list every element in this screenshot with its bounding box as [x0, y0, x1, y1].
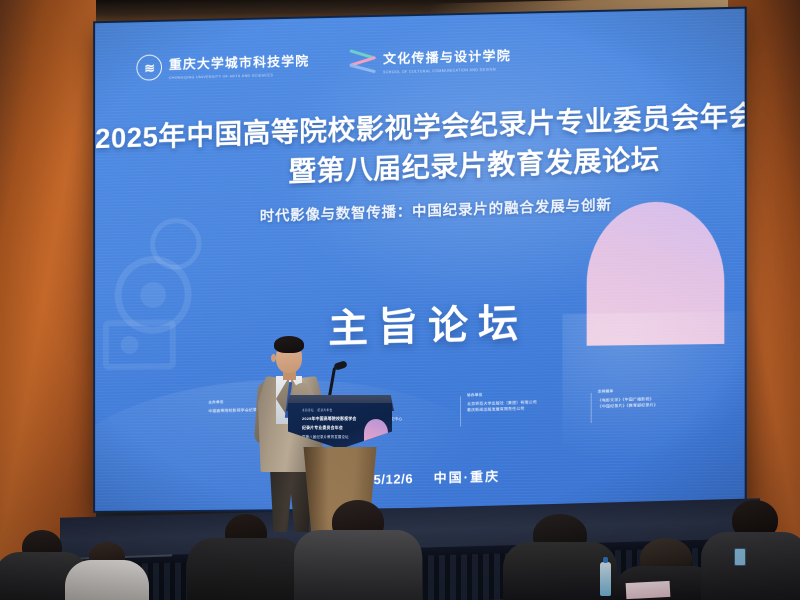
audience-puffer-jacket — [294, 530, 422, 600]
audience-member — [292, 500, 424, 600]
speaker-ear — [271, 354, 276, 362]
logo-university-text: 重庆大学城市科技学院 CHONGQING UNIVERSITY OF ARTS … — [169, 50, 310, 80]
audience-area — [0, 490, 800, 600]
audience-member — [64, 542, 150, 600]
logo-school-name-cn: 文化传播与设计学院 — [383, 48, 511, 66]
podium-sign-line-3: 暨第八届纪录片教育发展论坛 — [302, 434, 349, 439]
audience-coat — [65, 560, 149, 600]
credit-column: 支持媒体 《电影文学》《中国广播影视》 《中国纪录片》《教育部纪录片》 — [591, 386, 723, 417]
podium-sign-small: 主旨论坛 · 纪录片年会 — [302, 408, 332, 412]
university-seal-icon: ≋ — [136, 54, 162, 80]
water-bottle — [600, 562, 611, 596]
event-location: 中国·重庆 — [434, 469, 500, 486]
credit-heading: 协办单位 — [467, 390, 584, 398]
logo-school-name-en: SCHOOL OF CULTURAL COMMUNICATION AND DES… — [383, 67, 511, 74]
logo-row: ≋ 重庆大学城市科技学院 CHONGQING UNIVERSITY OF ART… — [136, 45, 511, 81]
school-emblem-icon — [349, 51, 376, 74]
audience-member — [186, 512, 306, 600]
podium-sign-arch — [364, 419, 388, 445]
conference-hall-scene: ≋ 重庆大学城市科技学院 CHONGQING UNIVERSITY OF ART… — [0, 0, 800, 600]
podium-sign-line-2: 纪录片专业委员会年会 — [302, 425, 343, 431]
headline-block: 2025年中国高等院校影视学会纪录片专业委员会年会 暨第八届纪录片教育发展论坛 … — [95, 96, 745, 231]
logo-university-name-cn: 重庆大学城市科技学院 — [169, 53, 310, 72]
logo-university: ≋ 重庆大学城市科技学院 CHONGQING UNIVERSITY OF ART… — [136, 50, 309, 80]
audience-coat — [187, 538, 305, 600]
credit-column: 协办单位 北京师范大学出版社（集团）有限公司 重庆新闻出版发展有限责任公司 — [460, 390, 591, 421]
audience-member — [700, 500, 800, 600]
podium-sign-panel: 主旨论坛 · 纪录片年会 2025年中国高等院校影视学会 纪录片专业委员会年会 … — [288, 403, 392, 449]
logo-school-text: 文化传播与设计学院 SCHOOL OF CULTURAL COMMUNICATI… — [383, 45, 511, 74]
podium-sign-line-1: 2025年中国高等院校影视学会 — [302, 416, 356, 422]
led-backdrop-screen: ≋ 重庆大学城市科技学院 CHONGQING UNIVERSITY OF ART… — [95, 9, 745, 511]
smartphone — [734, 548, 746, 566]
program-booklet — [626, 581, 671, 599]
audience-coat — [701, 532, 800, 600]
logo-school: 文化传播与设计学院 SCHOOL OF CULTURAL COMMUNICATI… — [349, 45, 511, 75]
speaker-hair — [274, 336, 304, 353]
logo-university-name-en: CHONGQING UNIVERSITY OF ARTS AND SCIENCE… — [169, 72, 310, 80]
